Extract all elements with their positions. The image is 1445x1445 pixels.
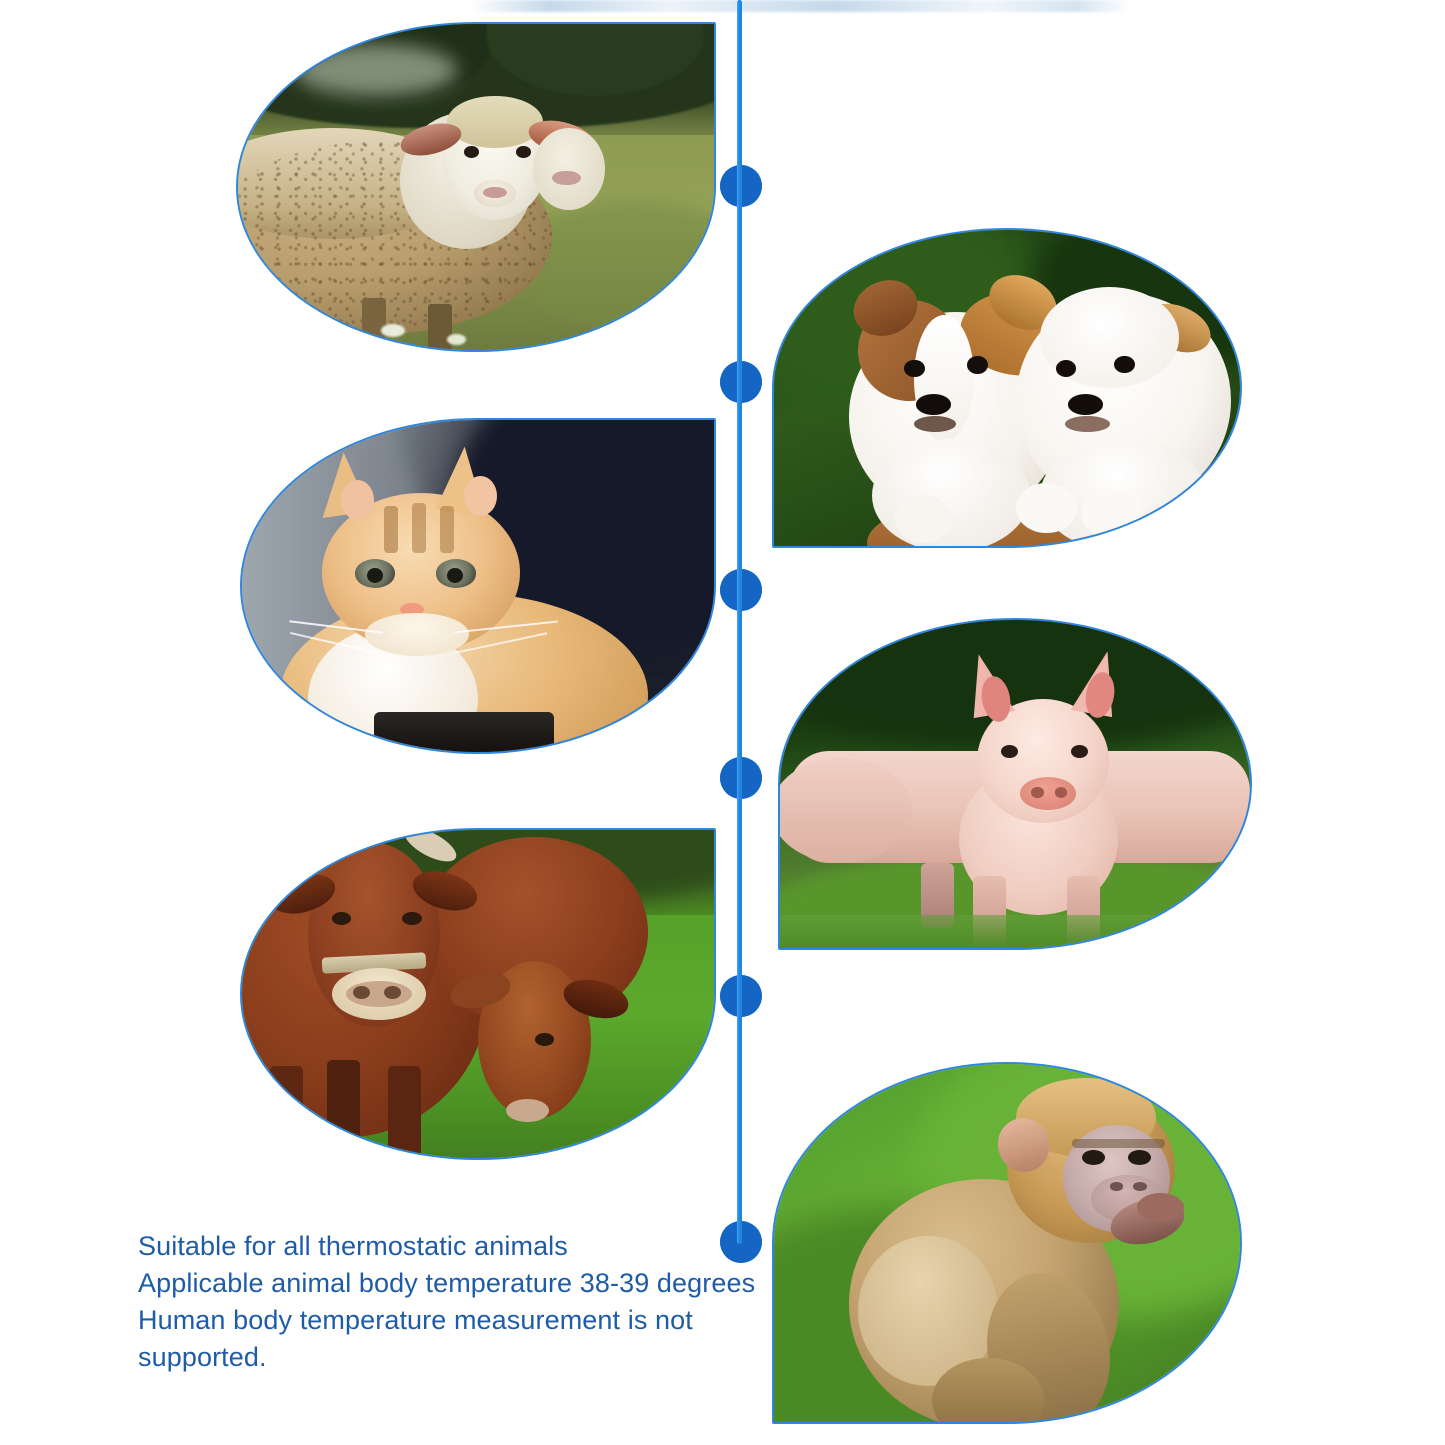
animal-card-sheep[interactable]	[236, 22, 716, 352]
timeline-line-overlay	[737, 0, 742, 1244]
photo-dog	[774, 230, 1240, 546]
animal-card-pig[interactable]	[778, 618, 1252, 950]
photo-cow	[242, 830, 714, 1158]
teardrop-frame-sheep	[236, 22, 716, 352]
product-infographic: Suitable for all thermostatic animals Ap…	[0, 0, 1445, 1445]
animal-card-monkey[interactable]	[772, 1062, 1242, 1424]
photo-cat	[242, 420, 714, 752]
animal-card-cat[interactable]	[240, 418, 716, 754]
caption-block: Suitable for all thermostatic animals Ap…	[138, 1228, 798, 1376]
animal-card-dog[interactable]	[772, 228, 1242, 548]
photo-pig	[780, 620, 1250, 948]
teardrop-frame-dog	[772, 228, 1242, 548]
animal-card-cow[interactable]	[240, 828, 716, 1160]
caption-line-2: Applicable animal body temperature 38-39…	[138, 1265, 798, 1302]
teardrop-frame-cat	[240, 418, 716, 754]
teardrop-frame-pig	[778, 618, 1252, 950]
photo-sheep	[238, 24, 714, 350]
teardrop-frame-cow	[240, 828, 716, 1160]
photo-monkey	[774, 1064, 1240, 1422]
caption-line-1: Suitable for all thermostatic animals	[138, 1228, 798, 1265]
caption-line-3: Human body temperature measurement is no…	[138, 1302, 798, 1339]
caption-line-4: supported.	[138, 1339, 798, 1376]
teardrop-frame-monkey	[772, 1062, 1242, 1424]
top-edge-artifact	[470, 0, 1130, 12]
